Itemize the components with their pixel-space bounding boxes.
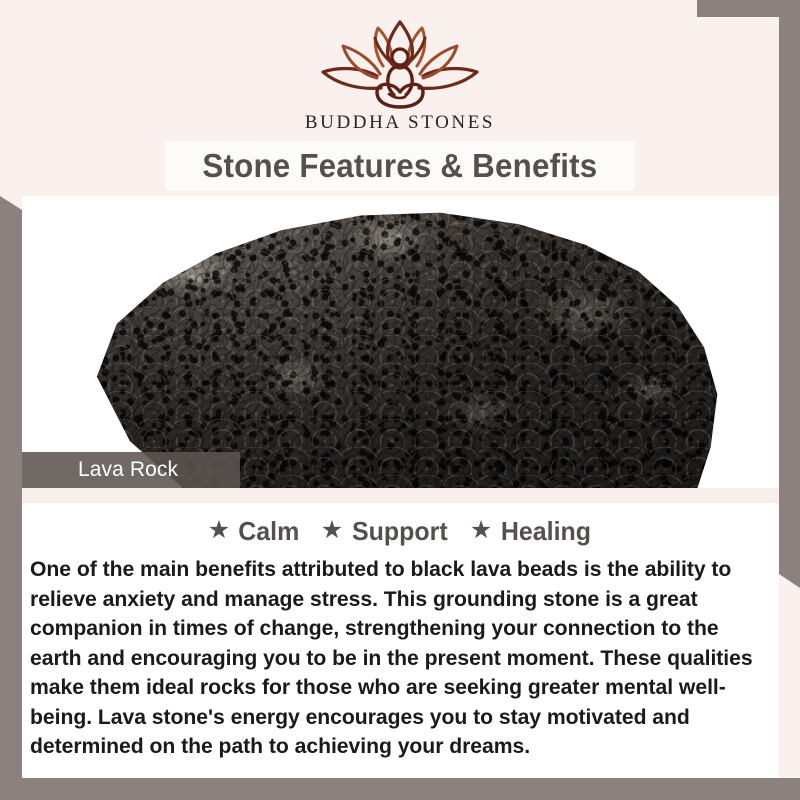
star-icon: ★ <box>321 518 343 543</box>
rock-shape <box>71 195 731 488</box>
feature-item-calm: ★ Calm <box>208 516 301 547</box>
feature-item-healing: ★ Healing <box>470 516 593 547</box>
star-icon: ★ <box>470 518 492 543</box>
frame-bottom-band <box>0 778 800 800</box>
feature-label: Calm <box>238 516 299 547</box>
rock-texture-layer-2 <box>71 195 731 488</box>
divider-strip <box>22 488 779 503</box>
feature-item-support: ★ Support <box>321 516 450 547</box>
content-panel: ★ Calm ★ Support ★ Healing One of the ma… <box>22 503 779 778</box>
lotus-meditation-icon <box>315 18 485 110</box>
benefits-paragraph: One of the main benefits attributed to b… <box>30 555 758 762</box>
feature-label: Healing <box>501 516 591 547</box>
feature-label: Support <box>352 516 448 547</box>
title-banner: Stone Features & Benefits <box>165 141 635 191</box>
brand-logo: BUDDHA STONES <box>0 18 800 134</box>
photo-caption-label: Lava Rock <box>20 458 178 482</box>
photo-caption-bar: Lava Rock <box>20 452 240 488</box>
brand-name: BUDDHA STONES <box>0 112 800 134</box>
star-icon: ★ <box>208 518 230 543</box>
page-title: Stone Features & Benefits <box>203 147 598 185</box>
lava-rock-photo <box>22 195 779 488</box>
frame-right-band <box>779 196 800 588</box>
feature-list: ★ Calm ★ Support ★ Healing <box>22 503 779 547</box>
frame-left-band <box>0 196 22 780</box>
infographic-page: BUDDHA STONES Stone Features & Benefits … <box>0 0 800 800</box>
